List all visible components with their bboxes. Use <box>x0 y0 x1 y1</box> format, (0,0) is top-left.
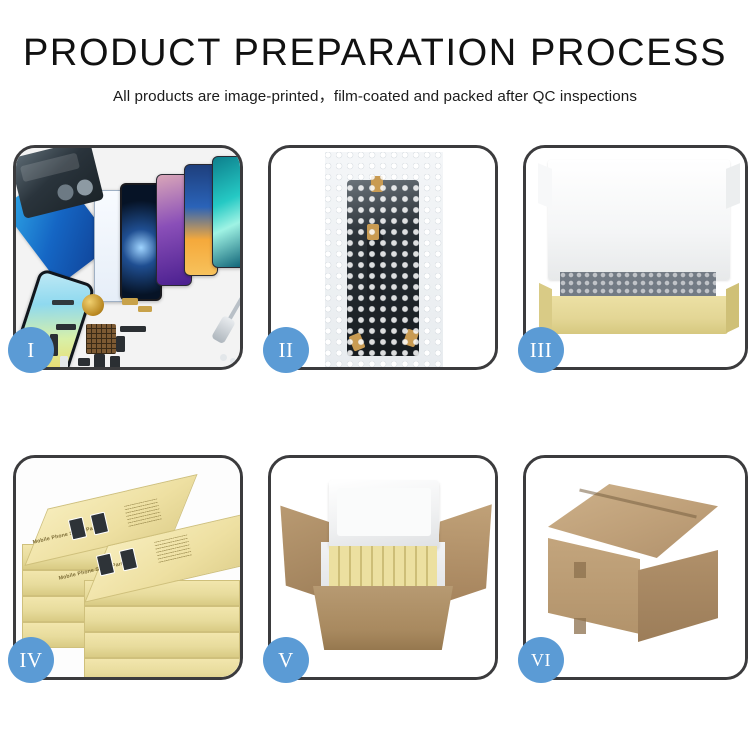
process-steps-grid: I II III <box>13 145 738 680</box>
small-part-image <box>60 356 68 367</box>
small-part-image <box>120 326 146 332</box>
step-badge: IV <box>8 637 54 683</box>
yellow-box-base-image <box>550 296 728 334</box>
carton-tape-image <box>574 562 586 578</box>
step-badge: III <box>518 327 564 373</box>
step-badge: V <box>263 637 309 683</box>
sealed-carton-scene <box>526 458 745 677</box>
phone-parts-collage <box>16 148 240 367</box>
small-part-image <box>52 300 74 305</box>
bubble-wrap-layer-image <box>560 272 716 298</box>
carton-tape-image <box>574 618 586 634</box>
bubble-wrap-overlay-image <box>325 152 443 367</box>
panel-image-sealed-carton <box>526 458 745 677</box>
page-title: PRODUCT PREPARATION PROCESS <box>0 34 750 74</box>
yellow-boxes-inside-image <box>329 546 437 586</box>
panel-bubble-wrapped[interactable]: II <box>268 145 498 370</box>
small-part-image <box>122 298 138 305</box>
panel-image-carton-packing <box>271 458 495 677</box>
panel-sealed-carton[interactable]: VI <box>523 455 748 680</box>
foam-lid-image <box>329 480 439 548</box>
small-part-image <box>94 354 105 367</box>
panel-inner-box[interactable]: III <box>523 145 748 370</box>
small-part-image <box>116 336 125 352</box>
step-badge: VI <box>518 637 564 683</box>
small-part-image <box>138 306 152 312</box>
step-badge: I <box>8 327 54 373</box>
speaker-coil-part-image <box>82 294 104 316</box>
small-part-image <box>110 356 120 367</box>
page-header: PRODUCT PREPARATION PROCESS All products… <box>0 0 750 106</box>
box-edge-image <box>84 658 240 677</box>
phone-housing-back-image <box>16 148 104 219</box>
bubble-wrap-scene <box>271 148 495 367</box>
panel-image-bubble-wrapped <box>271 148 495 367</box>
carton-packing-scene <box>271 458 495 677</box>
box-edge-image <box>84 606 240 632</box>
carton-side-face-image <box>638 550 718 642</box>
step-badge: II <box>263 327 309 373</box>
inner-box-scene <box>526 148 745 367</box>
panel-carton-packing[interactable]: V <box>268 455 498 680</box>
page-subtitle: All products are image-printed，film-coat… <box>0 84 750 106</box>
screw-tray-part-image <box>86 324 116 354</box>
panel-image-stacked-boxes: Mobile Phone Spare Parts Mobile Phone Sp… <box>16 458 240 677</box>
screwdriver-tool-image <box>223 288 240 328</box>
panel-product-parts[interactable]: I <box>13 145 243 370</box>
small-part-image <box>230 358 236 364</box>
box-stack-image: Mobile Phone Spare Parts Mobile Phone Sp… <box>22 472 240 670</box>
small-part-image <box>78 358 90 366</box>
carton-front-face-image <box>548 538 640 634</box>
carton-body-image <box>313 586 453 650</box>
panel-image-inner-box <box>526 148 745 367</box>
panel-image-product-parts <box>16 148 240 367</box>
phone-display-teal-image <box>212 156 240 268</box>
box-edge-image <box>84 632 240 658</box>
small-part-image <box>220 354 227 361</box>
small-part-image <box>56 324 76 330</box>
box-lid-image <box>548 160 730 280</box>
panel-stacked-boxes[interactable]: Mobile Phone Spare Parts Mobile Phone Sp… <box>13 455 243 680</box>
